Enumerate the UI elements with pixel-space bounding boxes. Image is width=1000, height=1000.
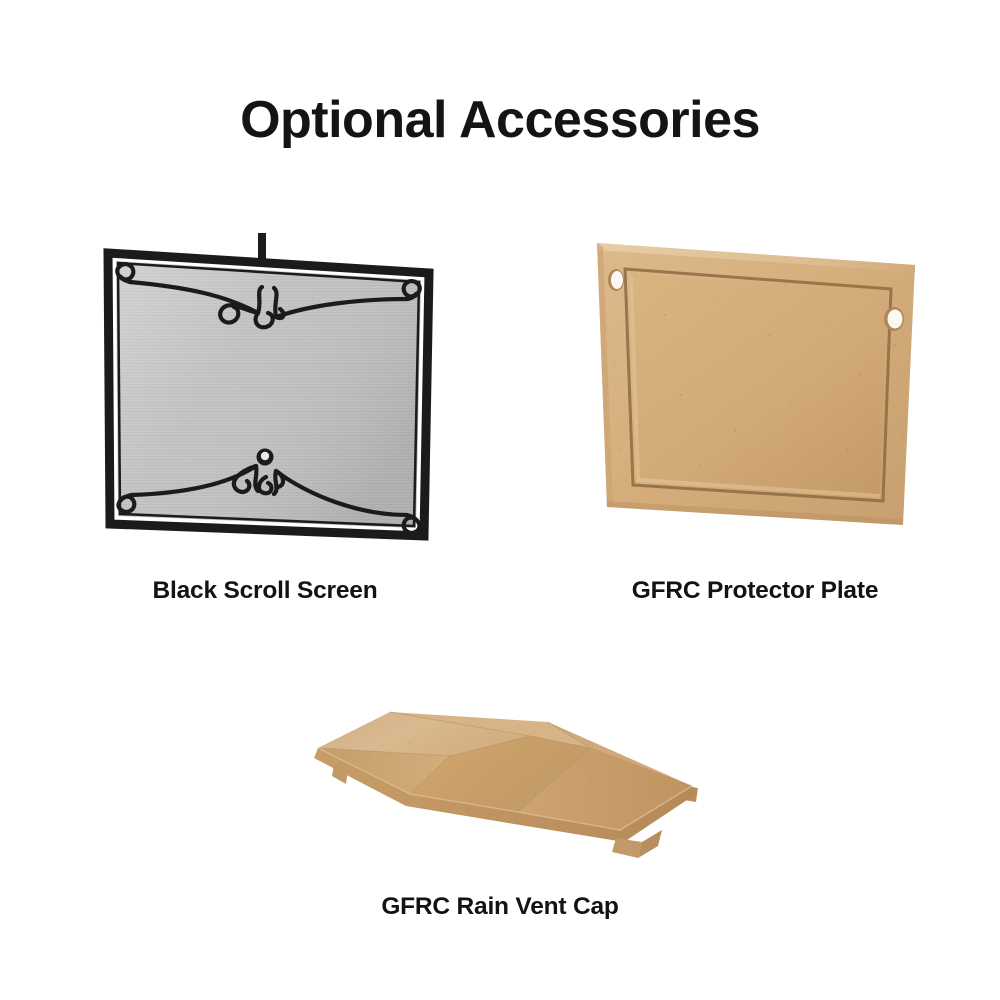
protector-plate-icon (585, 225, 925, 555)
accessory-label-black-scroll-screen: Black Scroll Screen (55, 577, 475, 605)
black-scroll-screen-image (55, 225, 475, 555)
accessory-card-black-scroll-screen[interactable]: Black Scroll Screen (55, 225, 475, 605)
rain-vent-cap-icon (290, 690, 710, 865)
mounting-hole-left (608, 269, 624, 291)
page-title: Optional Accessories (0, 93, 1000, 148)
accessory-card-gfrc-rain-vent-cap[interactable]: GFRC Rain Vent Cap (290, 690, 710, 921)
accessories-page: Optional Accessories (0, 0, 1000, 1000)
mounting-hole-right (884, 307, 904, 331)
accessories-row-bottom: GFRC Rain Vent Cap (0, 690, 1000, 950)
accessories-row-top: Black Scroll Screen (0, 225, 1000, 625)
fireplace-screen-icon (90, 225, 440, 555)
accessory-card-gfrc-protector-plate[interactable]: GFRC Protector Plate (545, 225, 965, 605)
accessory-label-gfrc-protector-plate: GFRC Protector Plate (545, 577, 965, 605)
gfrc-rain-vent-cap-image (290, 690, 710, 865)
gfrc-protector-plate-image (545, 225, 965, 555)
accessory-label-gfrc-rain-vent-cap: GFRC Rain Vent Cap (290, 893, 710, 921)
